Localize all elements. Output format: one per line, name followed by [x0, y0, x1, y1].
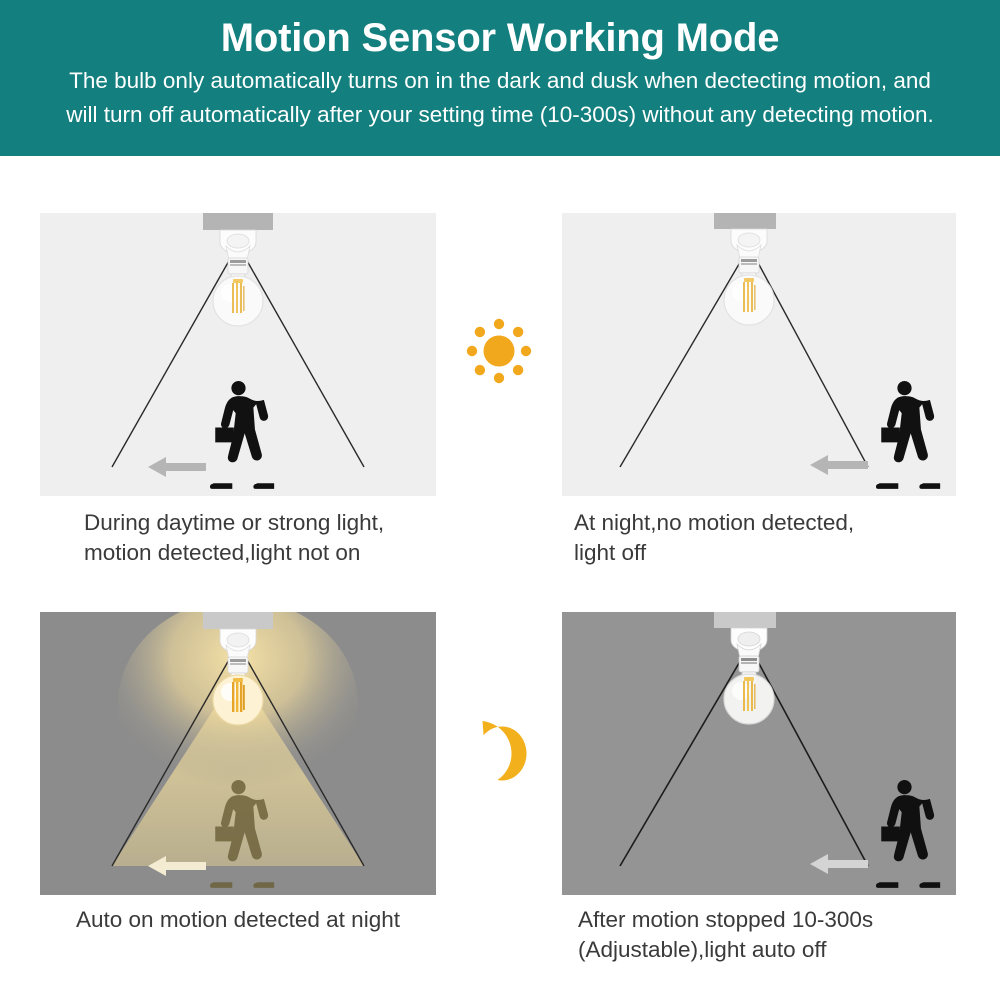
motion-direction-arrow: [810, 854, 868, 874]
detection-ray-left: [620, 259, 742, 467]
header-subtitle-line-2: will turn off automatically after your s…: [16, 98, 984, 132]
panel-night-motion-auto-on: [40, 612, 436, 895]
caption-line-1: At night,no motion detected,: [574, 508, 954, 538]
light-bulb-on: [213, 675, 263, 725]
panel-night-motion-stopped-auto-off: [562, 612, 956, 895]
ceiling-plate: [203, 213, 273, 230]
ceiling-plate: [714, 213, 776, 229]
person-silhouette: [876, 381, 940, 489]
header-banner: Motion Sensor Working Mode The bulb only…: [0, 0, 1000, 156]
scene-night-no-motion: [562, 213, 956, 496]
moon-icon-svg: [461, 712, 537, 788]
motion-direction-arrow: [810, 455, 868, 475]
detection-ray-right: [756, 259, 868, 467]
ceiling-plate: [714, 612, 776, 628]
caption-line-2: (Adjustable),light auto off: [578, 935, 978, 965]
header-subtitle-line-1: The bulb only automatically turns on in …: [16, 64, 984, 98]
sun-icon: [461, 313, 537, 389]
scene-night-motion-auto-on: [40, 612, 436, 895]
panel-caption-night-no-motion: At night,no motion detected, light off: [574, 508, 954, 568]
sun-icon-svg: [461, 313, 537, 389]
scene-daytime-motion: [40, 213, 436, 496]
header-subtitle: The bulb only automatically turns on in …: [0, 64, 1000, 132]
panel-caption-night-motion-auto-on: Auto on motion detected at night: [76, 905, 476, 935]
ceiling-plate: [203, 612, 273, 629]
caption-line-1: Auto on motion detected at night: [76, 905, 476, 935]
caption-line-1: After motion stopped 10-300s: [578, 905, 978, 935]
detection-ray-right: [246, 259, 364, 467]
panel-caption-daytime-motion: During daytime or strong light, motion d…: [84, 508, 464, 568]
scene-night-motion-stopped: [562, 612, 956, 895]
caption-line-2: motion detected,light not on: [84, 538, 464, 568]
page-title: Motion Sensor Working Mode: [0, 12, 1000, 64]
detection-ray-left: [112, 259, 230, 467]
moon-icon: [461, 712, 537, 788]
panel-daytime-motion: [40, 213, 436, 496]
panel-caption-night-motion-stopped: After motion stopped 10-300s (Adjustable…: [578, 905, 978, 965]
detection-ray-left: [620, 658, 742, 866]
detection-ray-right: [756, 658, 868, 866]
motion-sensor-infographic: Motion Sensor Working Mode The bulb only…: [0, 0, 1000, 1000]
motion-direction-arrow: [148, 457, 206, 477]
person-silhouette: [210, 381, 274, 489]
light-bulb-off: [724, 674, 774, 724]
person-silhouette: [876, 780, 940, 888]
light-bulb-off: [724, 275, 774, 325]
light-bulb-off: [213, 276, 263, 326]
caption-line-2: light off: [574, 538, 954, 568]
panel-night-no-motion: [562, 213, 956, 496]
caption-line-1: During daytime or strong light,: [84, 508, 464, 538]
